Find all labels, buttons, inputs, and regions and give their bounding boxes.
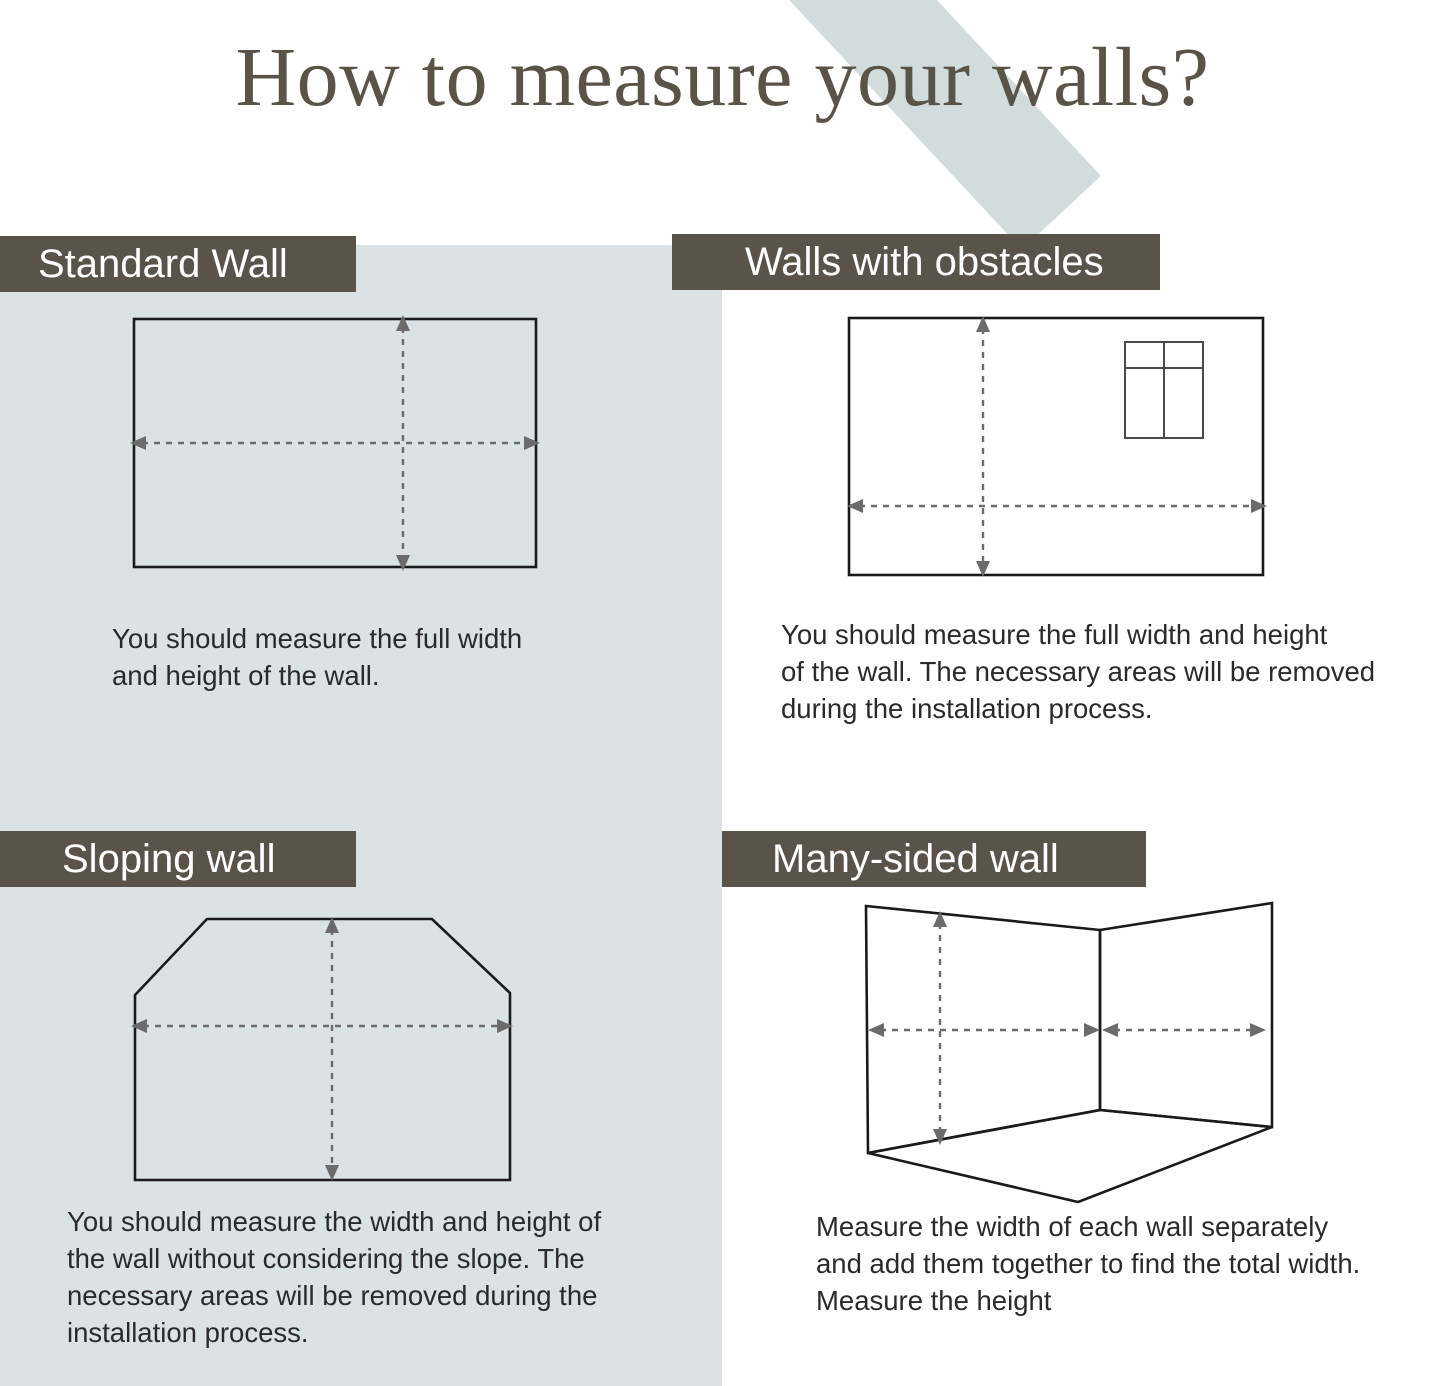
sloping-wall-shape xyxy=(135,919,510,1180)
caption-standard-wall: You should measure the full width and he… xyxy=(112,620,672,694)
height-dimension-arrow xyxy=(325,917,339,1181)
caption-sloping-wall: You should measure the width and height … xyxy=(67,1203,667,1351)
infographic-page: How to measure your walls? Standard Wall… xyxy=(0,0,1445,1386)
diagram-walls-with-obstacles xyxy=(835,300,1280,590)
page-title: How to measure your walls? xyxy=(0,34,1445,122)
diagram-sloping-wall xyxy=(115,895,565,1195)
caption-walls-with-obstacles: You should measure the full width and he… xyxy=(781,616,1421,727)
width-dimension-arrow xyxy=(847,499,1267,513)
height-dimension-arrow xyxy=(976,316,990,577)
width-dimension-arrow xyxy=(131,1019,513,1033)
section-header-standard-wall: Standard Wall xyxy=(0,236,356,292)
window-obstacle-icon xyxy=(1125,342,1203,438)
section-header-walls-with-obstacles: Walls with obstacles xyxy=(672,234,1160,290)
right-wall-width-dimension-arrow xyxy=(1102,1023,1266,1037)
diagram-standard-wall xyxy=(120,305,550,580)
floor-face xyxy=(868,1110,1272,1202)
width-dimension-arrow xyxy=(130,436,540,450)
diagram-many-sided-wall xyxy=(850,890,1300,1220)
left-wall-height-dimension-arrow xyxy=(933,911,947,1145)
left-wall-width-dimension-arrow xyxy=(868,1023,1100,1037)
right-wall-face xyxy=(1100,903,1272,1127)
caption-many-sided-wall: Measure the width of each wall separatel… xyxy=(816,1208,1426,1319)
section-header-sloping-wall: Sloping wall xyxy=(0,831,356,887)
section-header-many-sided-wall: Many-sided wall xyxy=(722,831,1146,887)
wall-rectangle xyxy=(849,318,1263,575)
